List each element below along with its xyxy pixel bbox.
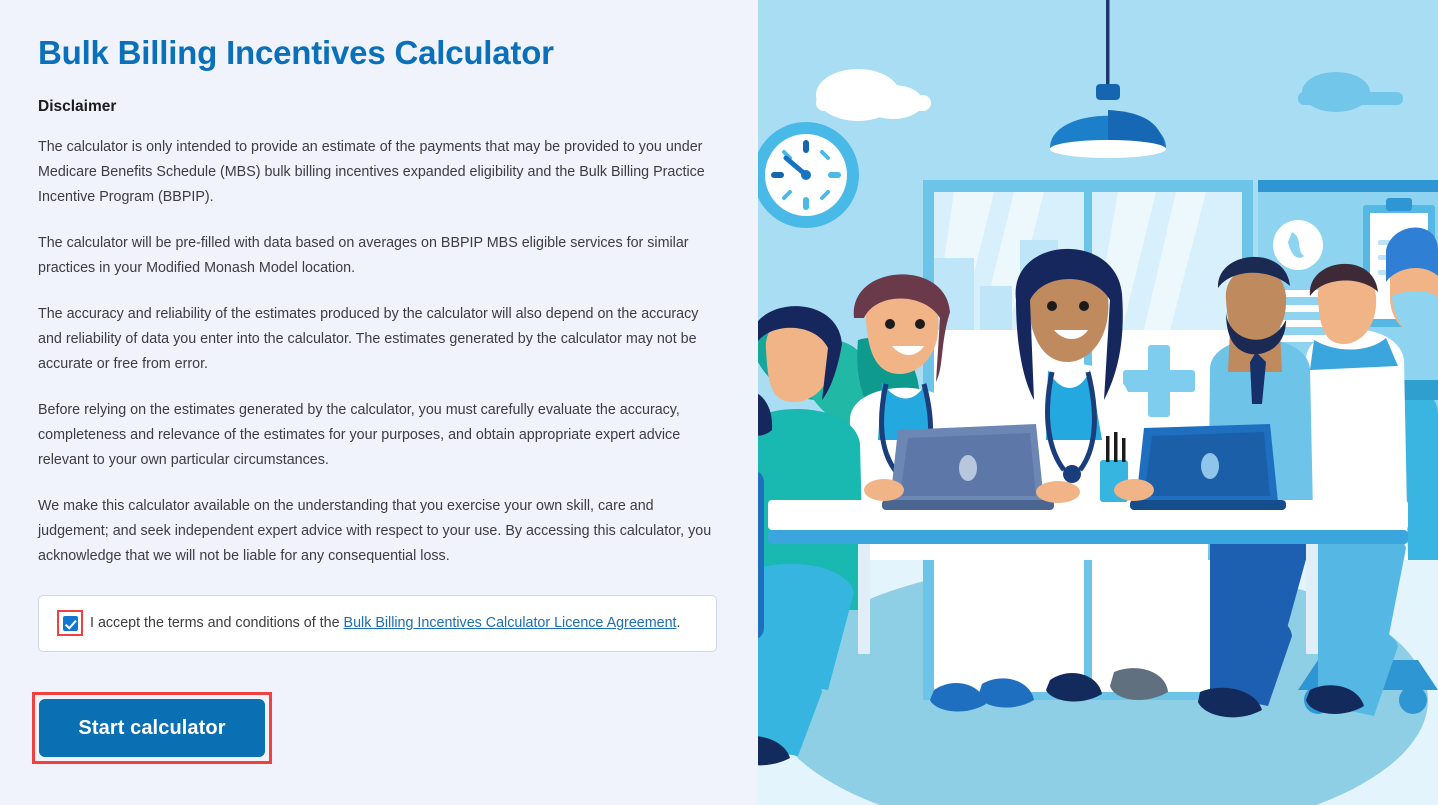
laptop-left: [882, 424, 1054, 510]
accept-terms-container: I accept the terms and conditions of the…: [38, 595, 717, 652]
clinic-team-illustration-svg: [758, 0, 1438, 805]
page-title: Bulk Billing Incentives Calculator: [38, 34, 720, 72]
calculator-landing-page: Bulk Billing Incentives Calculator Discl…: [0, 0, 1438, 805]
disclaimer-heading: Disclaimer: [38, 98, 720, 116]
disclaimer-paragraph: The calculator will be pre-filled with d…: [38, 231, 720, 281]
disclaimer-paragraph: We make this calculator available on the…: [38, 494, 720, 569]
accept-text-before-link: I accept the terms and conditions of the: [90, 615, 344, 631]
disclaimer-paragraph: The accuracy and reliability of the esti…: [38, 302, 720, 377]
clinic-team-illustration: [758, 0, 1438, 805]
licence-agreement-link[interactable]: Bulk Billing Incentives Calculator Licen…: [344, 615, 677, 631]
accept-terms-label: I accept the terms and conditions of the…: [90, 613, 681, 633]
disclaimer-paragraph: The calculator is only intended to provi…: [38, 135, 720, 210]
laptop-right: [1130, 424, 1286, 510]
disclaimer-body: The calculator is only intended to provi…: [38, 135, 720, 569]
office-chair: [758, 470, 764, 640]
accept-checkbox-annotation: [57, 610, 83, 636]
left-content-panel: Bulk Billing Incentives Calculator Discl…: [0, 0, 758, 805]
start-button-annotation: Start calculator: [32, 692, 272, 764]
start-calculator-button[interactable]: Start calculator: [39, 699, 265, 757]
disclaimer-paragraph: Before relying on the estimates generate…: [38, 398, 720, 473]
accept-terms-checkbox[interactable]: [63, 616, 78, 631]
accept-text-after-link: .: [677, 615, 681, 631]
